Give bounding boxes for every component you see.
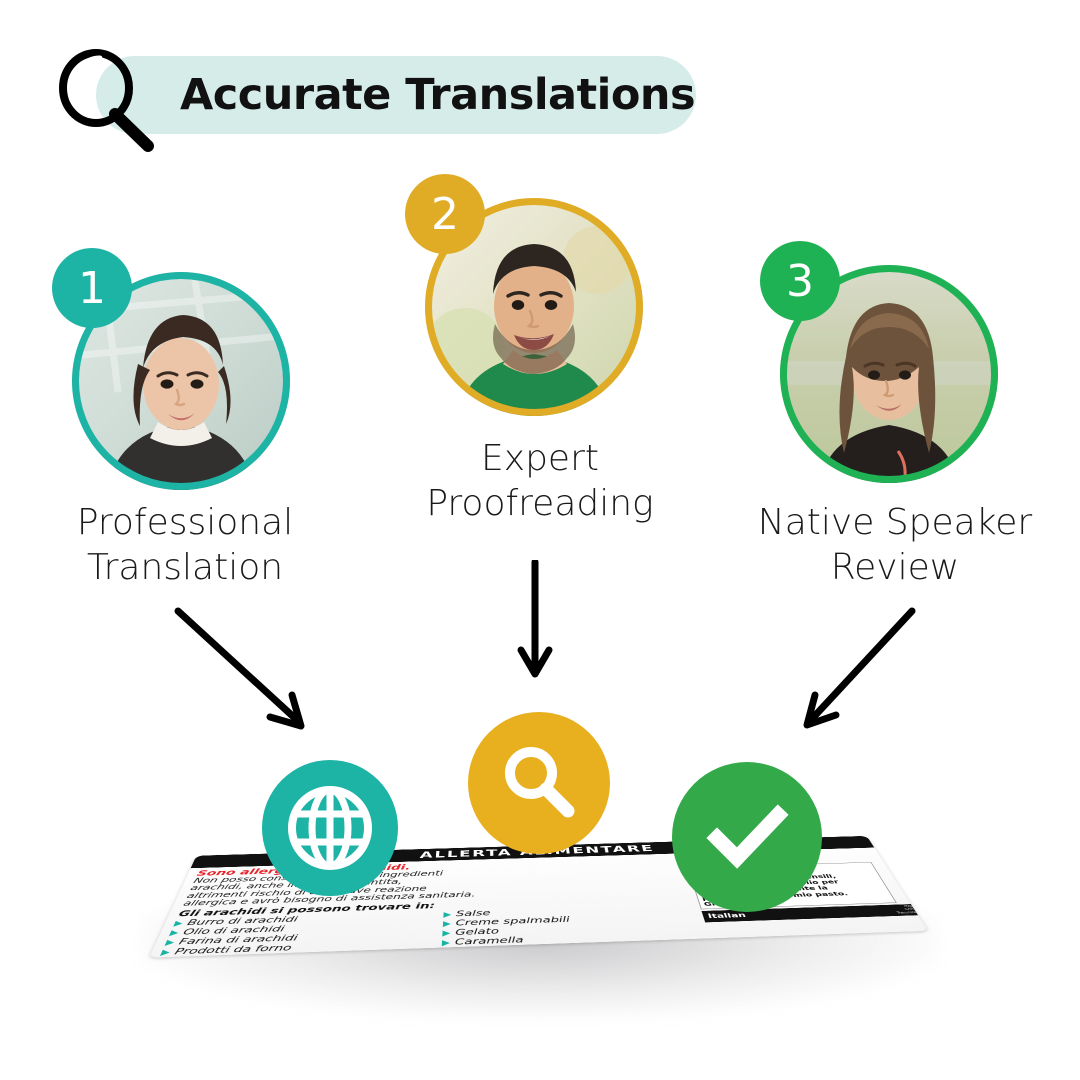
step-number-badge: 2 [405,174,485,254]
avatar-expert-proofreader: 2 [425,198,643,416]
search-badge [468,712,610,854]
triangle-bullet-icon [173,921,183,927]
arrow-down-right-icon [170,605,330,740]
check-icon [699,789,795,885]
triangle-bullet-icon [443,912,451,918]
step-label-expert-proofreading: Expert Proofreading [390,436,690,526]
step-number-badge: 3 [760,241,840,321]
step-label-native-speaker-review: Native Speaker Review [730,500,1060,590]
triangle-bullet-icon [160,949,171,956]
triangle-bullet-icon [169,930,180,936]
card-language-label: Italian [707,912,747,921]
triangle-bullet-icon [442,930,450,936]
arrow-down-left-icon [790,605,920,740]
avatar-professional-translator: 1 [72,272,290,490]
header-pill: Accurate Translations [96,56,696,134]
triangle-bullet-icon [443,921,451,927]
magnifier-icon [52,48,160,152]
triangle-bullet-icon [165,939,176,945]
step-label-professional-translation: Professional Translation [20,500,350,590]
step-number-badge: 1 [52,248,132,328]
globe-icon [284,782,376,874]
page-title: Accurate Translations [180,70,695,120]
search-icon [496,740,582,826]
check-badge [672,762,822,912]
arrow-down-icon [515,560,555,685]
globe-badge [262,760,398,896]
triangle-bullet-icon [442,940,450,946]
avatar-native-speaker-reviewer: 3 [780,265,998,483]
infographic-canvas: Accurate Translations [0,0,1080,1080]
